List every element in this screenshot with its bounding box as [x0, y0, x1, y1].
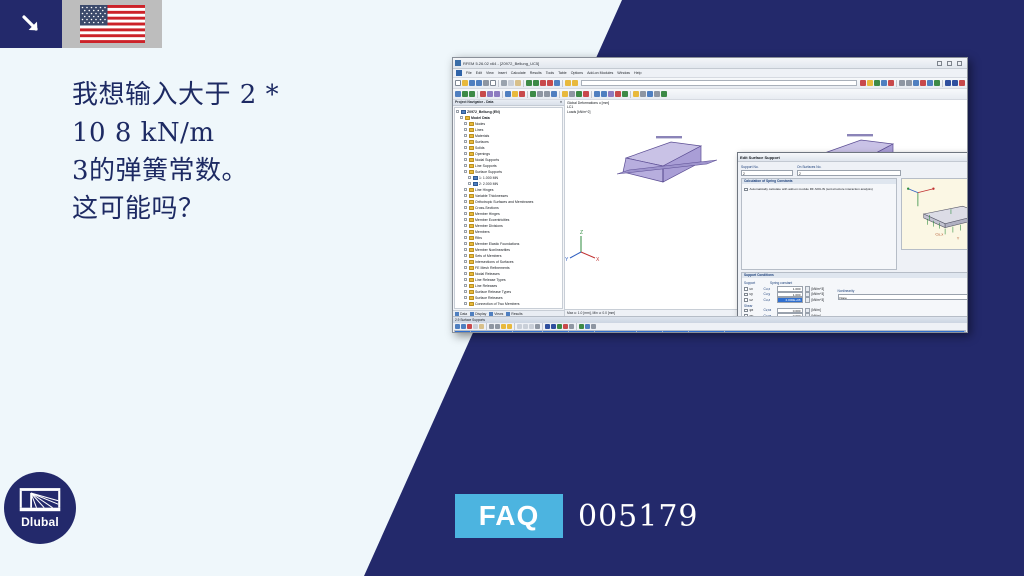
support-icon [473, 182, 478, 186]
support-condition-row[interactable]: uzCu,z2.000E+08[kN/m^3] [744, 297, 834, 303]
toolbar-separator [559, 91, 560, 98]
unit-label: [kN/m^3] [812, 287, 834, 291]
menu-item-view[interactable]: View [486, 71, 494, 75]
dialog-mid-row: Calculation of Spring Constants Automati… [741, 178, 967, 270]
navigator-tab-label: Views [494, 312, 503, 316]
svg-text:X: X [596, 257, 600, 263]
folder-icon [469, 308, 474, 310]
axis-checkbox[interactable] [744, 287, 748, 291]
project-navigator: Project Navigator - Data × Z0972_Bellung… [453, 100, 565, 316]
faq-badge-label: FAQ [479, 500, 540, 532]
measure-tool-icon[interactable] [576, 91, 582, 97]
expand-icon[interactable] [460, 116, 463, 119]
dlubal-logo-text: Dlubal [21, 515, 59, 529]
edit-surface-support-dialog: Edit Surface Support × Support No. 2 On … [737, 152, 967, 316]
window-titlebar: RFEM 5.26.02 x64 - [Z0972_Bellung_UC5] [453, 58, 967, 69]
toolbar-separator [477, 91, 478, 98]
expand-icon[interactable] [464, 158, 467, 161]
copy-icon[interactable] [508, 80, 514, 86]
expand-icon[interactable] [464, 206, 467, 209]
axis-label: uz [750, 298, 762, 302]
table-toolbar[interactable] [453, 323, 967, 330]
spring-symbol: Cv,yz [764, 314, 775, 316]
folder-icon [469, 242, 474, 246]
support-conditions-content: Support Spring constant uxCu,x1.000[kN/m… [744, 281, 967, 316]
soilin-checkbox-row[interactable]: Automatically calculate with add-on modu… [744, 187, 894, 191]
folder-icon [469, 266, 474, 270]
folder-icon [465, 116, 470, 120]
dimension-tool-icon[interactable] [562, 91, 568, 97]
expand-icon[interactable] [464, 164, 467, 167]
axis-checkbox[interactable] [744, 309, 748, 313]
spring-col-label: Spring constant [770, 281, 792, 285]
support-no-input[interactable]: 2 [741, 170, 793, 176]
expand-icon[interactable] [464, 212, 467, 215]
us-flag-icon [80, 5, 145, 43]
structure-left [617, 136, 717, 182]
table-first-icon[interactable] [489, 324, 494, 329]
results-icon[interactable] [874, 80, 880, 86]
table-next-icon[interactable] [507, 324, 512, 329]
folder-icon [469, 236, 474, 240]
soilin-checkbox[interactable] [744, 188, 748, 192]
toolbar-separator [562, 80, 563, 87]
menu-bar[interactable]: File Edit View Insert Calculate Results … [453, 69, 967, 78]
new-icon[interactable] [455, 80, 461, 86]
expand-icon[interactable] [464, 224, 467, 227]
minimize-icon[interactable] [937, 61, 942, 66]
preview-axis [907, 188, 935, 207]
svg-text:Z: Z [580, 230, 583, 236]
spinner-icon[interactable] [805, 297, 810, 303]
menu-item-edit[interactable]: Edit [476, 71, 482, 75]
folder-icon [469, 152, 474, 156]
toolbar-separator [523, 80, 524, 87]
info-icon[interactable] [934, 80, 940, 86]
expand-icon[interactable] [464, 266, 467, 269]
undo-icon[interactable] [526, 80, 532, 86]
member-tool-icon[interactable] [480, 91, 486, 97]
toolbar-separator [942, 80, 943, 87]
table-help-icon[interactable] [591, 324, 596, 329]
menu-item-insert[interactable]: Insert [498, 71, 507, 75]
dialog-top-row: Support No. 2 On Surfaces No. 2 [741, 165, 967, 176]
toolbar-row-1[interactable] [453, 78, 967, 89]
work-area: Project Navigator - Data × Z0972_Bellung… [453, 100, 967, 316]
calc-icon[interactable] [860, 80, 866, 86]
isolate-icon[interactable] [661, 91, 667, 97]
folder-icon [469, 122, 474, 126]
expand-icon[interactable] [464, 248, 467, 251]
print-icon[interactable] [483, 80, 489, 86]
navigator-tab-display[interactable]: Display [470, 312, 486, 316]
table-settings-icon[interactable] [569, 324, 574, 329]
mirror-tool-icon[interactable] [551, 91, 557, 97]
expand-icon[interactable] [464, 242, 467, 245]
axis-triad: Z X Y [565, 230, 600, 263]
menu-item-calculate[interactable]: Calculate [511, 71, 526, 75]
folder-icon [469, 164, 474, 168]
folder-icon [469, 260, 474, 264]
rfem-application-window: RFEM 5.26.02 x64 - [Z0972_Bellung_UC5] F… [452, 57, 968, 333]
tree-item-label: Joints [475, 307, 484, 310]
spring-value-input[interactable]: 2.000E+08 [777, 297, 803, 303]
spring-symbol: Cv,xz [764, 308, 775, 312]
spring-constants-group-title: Calculation of Spring Constants [742, 179, 896, 184]
table-group-header-cell [725, 331, 965, 333]
display-lines-icon[interactable] [601, 91, 607, 97]
navigator-tree[interactable]: Z0972_Bellung (EN)Model DataNodesLinesMa… [454, 107, 563, 310]
menu-item-options[interactable]: Options [571, 71, 583, 75]
table-delete-icon[interactable] [467, 324, 472, 329]
table-separator [514, 323, 515, 330]
hinge-tool-icon[interactable] [512, 91, 518, 97]
folder-icon [469, 302, 474, 306]
folder-icon [469, 224, 474, 228]
window-title: RFEM 5.26.02 x64 - [Z0972_Bellung_UC5] [463, 61, 937, 66]
axis-label: uy [750, 292, 762, 296]
dialog-title: Edit Surface Support [740, 155, 780, 160]
table-group-header-cell: B [471, 331, 513, 333]
navigator-tab-data[interactable]: Data [455, 312, 467, 316]
expand-icon[interactable] [464, 200, 467, 203]
wireframe-icon[interactable] [572, 80, 578, 86]
faq-badge: FAQ [455, 494, 563, 538]
table-group-header-cell: G [637, 331, 663, 333]
support-conditions-title: Support Conditions [742, 273, 967, 278]
svg-text:Y: Y [957, 235, 960, 240]
expand-icon[interactable] [464, 296, 467, 299]
expand-icon[interactable] [464, 152, 467, 155]
display-loads-icon[interactable] [615, 91, 621, 97]
table-group-header-cell: D [543, 331, 569, 333]
spring-value-input[interactable]: 0.000 [777, 313, 803, 316]
navigator-tab-label: Results [511, 312, 522, 316]
on-surfaces-input[interactable]: 2 [797, 170, 901, 176]
expand-icon[interactable] [464, 308, 467, 309]
unit-label: [kN/m] [812, 308, 834, 312]
section-tool-icon[interactable] [583, 91, 589, 97]
folder-icon [469, 212, 474, 216]
visibility-icon[interactable] [647, 91, 653, 97]
spring-constants-content: Automatically calculate with add-on modu… [744, 187, 894, 191]
move-tool-icon[interactable] [537, 91, 543, 97]
table-separator [486, 323, 487, 330]
delete-icon[interactable] [920, 80, 926, 86]
deformation-icon[interactable] [881, 80, 887, 86]
menu-item-results[interactable]: Results [530, 71, 542, 75]
nonlinearity-select[interactable]: None [838, 294, 968, 300]
mesh-tool-icon[interactable] [530, 91, 536, 97]
navigator-tabs[interactable]: Data Display Views Results [453, 310, 564, 316]
loadcase-combo[interactable] [581, 80, 857, 86]
svg-text:Cu,x: Cu,x [935, 231, 943, 236]
expand-icon[interactable] [464, 290, 467, 293]
table-sort-icon[interactable] [523, 324, 528, 329]
table-excel-icon[interactable] [579, 324, 584, 329]
window-controls[interactable] [937, 61, 965, 66]
table-separator [542, 323, 543, 330]
question-text: 我想输入大于 2 * 10 8 kN/m 3的弹簧常数。 这可能吗？ [72, 76, 402, 228]
expand-icon[interactable] [464, 230, 467, 233]
spring-symbol: Cu,x [764, 287, 775, 291]
app-icon [455, 60, 461, 66]
table-group-header-row: ABCDEFGHI [455, 331, 965, 333]
table-separator [576, 323, 577, 330]
results-tab-icon [506, 312, 510, 316]
table-group-header-cell: A [455, 331, 471, 333]
folder-icon [469, 206, 474, 210]
table-zoom-icon[interactable] [551, 324, 556, 329]
menu-item-addons[interactable]: Add-on Modules [587, 71, 613, 75]
navigator-title: Project Navigator - Data [455, 100, 493, 104]
table-panel: 2.9 Surface Supports [453, 316, 967, 333]
table-grid[interactable]: ABCDEFGHI Found. No.On Surfaces No.Sprin… [454, 330, 966, 333]
table-info-icon[interactable] [585, 324, 590, 329]
folder-icon [469, 248, 474, 252]
expand-icon[interactable] [464, 170, 467, 173]
soilin-checkbox-label: Automatically calculate with add-on modu… [750, 187, 873, 191]
table-print-icon[interactable] [535, 324, 540, 329]
folder-icon [469, 296, 474, 300]
folder-icon [469, 272, 474, 276]
unit-label: [kN/m^3] [812, 298, 834, 302]
folder-icon [469, 158, 474, 162]
ortho-icon[interactable] [913, 80, 919, 86]
open-icon[interactable] [462, 80, 468, 86]
folder-icon [469, 200, 474, 204]
language-arrow-box [0, 0, 62, 48]
folder-icon [469, 218, 474, 222]
support-no-field: Support No. 2 [741, 165, 793, 176]
navigator-tab-views[interactable]: Views [489, 312, 503, 316]
spinner-icon[interactable] [805, 313, 810, 316]
support-condition-row[interactable]: φyCv,yz0.000[kN/m] [744, 313, 834, 316]
filter-icon[interactable] [633, 91, 639, 97]
table-group-header-cell: H [663, 331, 689, 333]
views-tab-icon [489, 312, 493, 316]
display-nodes-icon[interactable] [594, 91, 600, 97]
menu-item-help[interactable]: Help [634, 71, 641, 75]
language-flag-box[interactable] [62, 0, 162, 48]
model-viewport[interactable]: Global Deformations u [mm] LC1 Loads [kN… [565, 100, 967, 316]
spring-constants-group: Calculation of Spring Constants Automati… [741, 178, 897, 270]
table-group-header-cell: I [689, 331, 725, 333]
expand-icon[interactable] [456, 110, 459, 113]
display-tab-icon [470, 312, 474, 316]
expand-icon[interactable] [464, 302, 467, 305]
navigator-tab-label: Data [460, 312, 467, 316]
expand-icon[interactable] [464, 254, 467, 257]
support-icon [473, 176, 478, 180]
nonlinearity-label: Nonlinearity [838, 289, 968, 293]
table-new-icon[interactable] [455, 324, 460, 329]
support-no-label: Support No. [741, 165, 793, 169]
support-condition-rows[interactable]: uxCu,x1.000[kN/m^3]uyCu,y1.000[kN/m^3]uz… [744, 286, 834, 303]
folder-icon [469, 128, 474, 132]
zoom-window-icon[interactable] [554, 80, 560, 86]
save-all-icon[interactable] [476, 80, 482, 86]
zoom-in-icon[interactable] [540, 80, 546, 86]
support-tool-icon[interactable] [505, 91, 511, 97]
menu-item-table[interactable]: Table [558, 71, 567, 75]
stress-icon[interactable] [888, 80, 894, 86]
dialog-body: Support No. 2 On Surfaces No. 2 Calculat… [738, 162, 967, 316]
table-paste-icon[interactable] [479, 324, 484, 329]
paste-icon[interactable] [515, 80, 521, 86]
arc-tool-icon[interactable] [469, 91, 475, 97]
table-export-icon[interactable] [557, 324, 562, 329]
table-calc-icon[interactable] [563, 324, 568, 329]
folder-icon [469, 290, 474, 294]
spring-symbol: Cu,y [764, 292, 775, 296]
expand-icon[interactable] [464, 194, 467, 197]
toolbar-separator [591, 91, 592, 98]
on-surfaces-label: On Surfaces No. [797, 165, 901, 169]
axis-checkbox[interactable] [744, 314, 748, 316]
menu-item-file[interactable]: File [466, 71, 472, 75]
data-tab-icon [455, 312, 459, 316]
snap-icon[interactable] [899, 80, 905, 86]
structural-frame-icon [19, 487, 61, 513]
toolbar-separator [896, 80, 897, 87]
expand-icon[interactable] [464, 260, 467, 263]
navigator-tab-results[interactable]: Results [506, 312, 522, 316]
table-prev-icon[interactable] [495, 324, 500, 329]
support-col-label: Support [744, 281, 768, 285]
zoom-out-icon[interactable] [547, 80, 553, 86]
folder-icon [469, 194, 474, 198]
toolbar-separator [498, 80, 499, 87]
expand-icon[interactable] [468, 176, 471, 179]
expand-icon[interactable] [464, 236, 467, 239]
layers-icon[interactable] [640, 91, 646, 97]
save-icon[interactable] [469, 80, 475, 86]
support-conditions-group: Support Conditions Support Spring consta… [741, 272, 967, 316]
navigator-header: Project Navigator - Data × [453, 100, 564, 106]
grid-icon[interactable] [906, 80, 912, 86]
svg-text:Y: Y [565, 257, 569, 263]
view-iso-icon[interactable] [959, 80, 965, 86]
navigator-tab-label: Display [475, 312, 486, 316]
folder-icon [469, 140, 474, 144]
display-supports-icon[interactable] [622, 91, 628, 97]
folder-icon [469, 188, 474, 192]
node-tool-icon[interactable] [455, 91, 461, 97]
toolbar-separator [527, 91, 528, 98]
table-group-header-cell: E [569, 331, 595, 333]
text-tool-icon[interactable] [569, 91, 575, 97]
expand-icon[interactable] [464, 218, 467, 221]
table-find-icon[interactable] [529, 324, 534, 329]
folder-icon [469, 170, 474, 174]
cut-icon[interactable] [501, 80, 507, 86]
table-highlight-icon[interactable] [501, 324, 506, 329]
support-preview: Cu,x Y Cu,z [901, 178, 967, 250]
dialog-titlebar: Edit Surface Support × [738, 153, 967, 162]
axis-label: φx [750, 308, 762, 312]
table-filter-icon[interactable] [517, 324, 522, 329]
axis-checkbox[interactable] [744, 298, 748, 302]
expand-icon[interactable] [464, 284, 467, 287]
maximize-icon[interactable] [947, 61, 952, 66]
table-select-icon[interactable] [545, 324, 550, 329]
calc-all-icon[interactable] [867, 80, 873, 86]
expand-icon[interactable] [468, 182, 471, 185]
menu-item-tools[interactable]: Tools [546, 71, 554, 75]
close-icon[interactable] [957, 61, 962, 66]
load-tool-icon[interactable] [519, 91, 525, 97]
on-surfaces-field: On Surfaces No. 2 [797, 165, 901, 176]
folder-icon [469, 254, 474, 258]
expand-icon[interactable] [464, 146, 467, 149]
solid-tool-icon[interactable] [494, 91, 500, 97]
folder-icon [469, 146, 474, 150]
toolbar-row-2[interactable] [453, 89, 967, 100]
support-preview-render: Cu,x Y Cu,z [902, 179, 967, 249]
toolbar-separator [630, 91, 631, 98]
expand-icon[interactable] [464, 278, 467, 281]
expand-icon[interactable] [464, 188, 467, 191]
unit-label: [kN/m^3] [812, 292, 834, 296]
navigator-close-icon[interactable]: × [560, 100, 562, 104]
axis-label: ux [750, 287, 762, 291]
menu-item-window[interactable]: Window [617, 71, 630, 75]
expand-icon[interactable] [464, 272, 467, 275]
line-tool-icon[interactable] [462, 91, 468, 97]
axis-checkbox[interactable] [744, 293, 748, 297]
unit-label: [kN/m] [812, 314, 834, 316]
folder-icon [469, 230, 474, 234]
expand-icon[interactable] [464, 122, 467, 125]
view-front-icon[interactable] [945, 80, 951, 86]
folder-icon [469, 278, 474, 282]
folder-icon [469, 284, 474, 288]
toolbar-separator [502, 91, 503, 98]
display-surfaces-icon[interactable] [608, 91, 614, 97]
shear-rows[interactable]: φxCv,xz0.000[kN/m]φyCv,yz0.000[kN/m] [744, 308, 834, 317]
dlubal-logo: Dlubal [4, 472, 76, 544]
menu-app-icon [456, 70, 462, 76]
render-icon[interactable] [565, 80, 571, 86]
rotate-tool-icon[interactable] [544, 91, 550, 97]
faq-number: 005179 [578, 494, 699, 538]
folder-icon [469, 134, 474, 138]
tree-item[interactable]: Joints [456, 307, 562, 310]
surface-tool-icon[interactable] [487, 91, 493, 97]
preview-icon[interactable] [490, 80, 496, 86]
expand-icon[interactable] [464, 140, 467, 143]
spring-symbol: Cu,z [764, 298, 775, 302]
table-group-header-cell: F [595, 331, 637, 333]
expand-icon[interactable] [464, 134, 467, 137]
table-group-header-cell: C [513, 331, 543, 333]
table-copy-icon[interactable] [473, 324, 478, 329]
table-edit-icon[interactable] [461, 324, 466, 329]
view-side-icon[interactable] [952, 80, 958, 86]
settings-icon[interactable] [927, 80, 933, 86]
axis-label: φy [750, 314, 762, 316]
arrow-down-right-icon [19, 12, 43, 36]
model-icon [461, 110, 466, 114]
redo-icon[interactable] [533, 80, 539, 86]
group-icon[interactable] [654, 91, 660, 97]
expand-icon[interactable] [464, 128, 467, 131]
